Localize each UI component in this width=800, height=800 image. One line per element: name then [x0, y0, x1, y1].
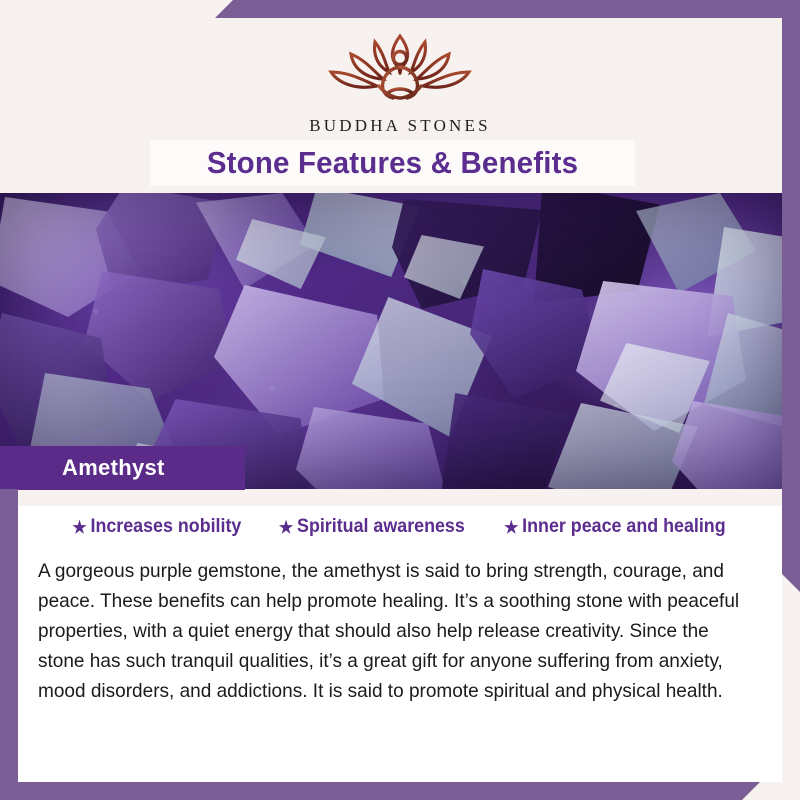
benefit-label: Increases nobility	[91, 516, 242, 538]
content-panel: ★ Increases nobility ★ Spiritual awarene…	[18, 506, 782, 782]
infographic-page: BUDDHA STONES Stone Features & Benefits	[0, 0, 800, 800]
benefit-item: ★ Spiritual awareness	[279, 516, 465, 538]
photo-vignette	[0, 193, 800, 489]
benefits-list: ★ Increases nobility ★ Spiritual awarene…	[18, 516, 782, 538]
stone-description: A gorgeous purple gemstone, the amethyst…	[38, 556, 746, 706]
benefit-label: Spiritual awareness	[297, 516, 465, 538]
star-icon: ★	[504, 519, 518, 536]
benefit-item: ★ Inner peace and healing	[504, 516, 726, 538]
frame-band-left	[0, 489, 18, 800]
benefit-label: Inner peace and healing	[522, 516, 725, 538]
cream-divider-strip	[0, 489, 800, 506]
star-icon: ★	[73, 519, 87, 536]
page-title: Stone Features & Benefits	[162, 140, 623, 186]
amethyst-crystal-cluster-photo	[0, 193, 800, 489]
lotus-meditation-figure-logo	[315, 22, 485, 112]
stone-name: Amethyst	[62, 446, 165, 490]
frame-band-top	[215, 0, 800, 18]
star-icon: ★	[279, 519, 293, 536]
brand-name: BUDDHA STONES	[0, 116, 800, 136]
header-section: BUDDHA STONES Stone Features & Benefits	[0, 0, 800, 193]
benefit-item: ★ Increases nobility	[73, 516, 242, 538]
frame-band-bottom	[0, 782, 760, 800]
brand-logo: BUDDHA STONES	[0, 22, 800, 136]
frame-band-right	[782, 0, 800, 592]
